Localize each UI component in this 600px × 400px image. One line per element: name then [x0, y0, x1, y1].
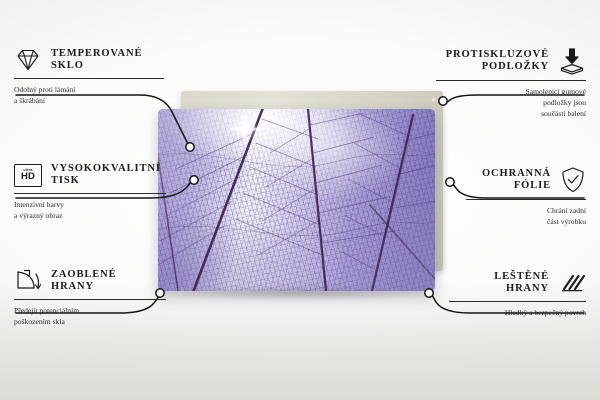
- ultra-hd-icon-large-text: HD: [21, 172, 35, 182]
- feature-title-line2: HRANY: [51, 281, 117, 293]
- feature-title-line2: HRANY: [494, 283, 549, 295]
- infographic-canvas: TEMPEROVANÉ SKLO Odolný proti lámání a š…: [0, 0, 600, 400]
- feature-title-line1: VYSOKOKVALITNÍ: [51, 163, 161, 175]
- feature-divider: [14, 299, 166, 300]
- feature-title: LEŠTĚNÉ HRANY: [494, 271, 549, 296]
- feature-polished-edges: LEŠTĚNÉ HRANY Hladký a bezpečný povrch: [449, 271, 586, 318]
- feature-description: Předejít potenciálním poškozením skla: [14, 305, 166, 327]
- feature-title-line1: OCHRANNÁ: [482, 168, 551, 180]
- feature-title-line2: SKLO: [51, 60, 142, 72]
- rounded-corner-icon: [14, 268, 42, 294]
- feature-title-line1: ZAOBLENÉ: [51, 269, 117, 281]
- glass-sheen: [158, 109, 435, 291]
- product-image: [150, 80, 460, 310]
- diamond-icon: [14, 47, 42, 73]
- feature-description: Hladký a bezpečný povrch: [449, 307, 586, 318]
- feature-rounded-edges: ZAOBLENÉ HRANY Předejít potenciálním poš…: [14, 268, 166, 327]
- product-drop-shadow: [156, 286, 440, 300]
- ultra-hd-icon: ultra HD: [14, 164, 42, 187]
- feature-divider: [449, 301, 586, 302]
- feature-title-line2: TISK: [51, 175, 161, 187]
- feature-description: Odolný proti lámání a škrábání: [14, 84, 164, 106]
- feature-title: ZAOBLENÉ HRANY: [51, 269, 117, 294]
- feature-title: PROTISKLUZOVÉ PODLOŽKY: [446, 49, 549, 74]
- feature-divider: [14, 193, 166, 194]
- feature-title-line1: PROTISKLUZOVÉ: [446, 49, 549, 61]
- feature-title-line2: FÓLIE: [482, 180, 551, 192]
- feature-description: Samolepicí gumové podložky jsou součástí…: [436, 86, 586, 119]
- shield-check-icon: [560, 166, 586, 194]
- glass-board: [158, 109, 435, 291]
- feature-title: TEMPEROVANÉ SKLO: [51, 48, 142, 73]
- feature-tempered-glass: TEMPEROVANÉ SKLO Odolný proti lámání a š…: [14, 47, 164, 106]
- leaf-pattern-artwork: [158, 109, 435, 291]
- feature-divider: [436, 80, 586, 81]
- feature-protective-foil: OCHRANNÁ FÓLIE Chrání zadní část výrobku: [466, 166, 586, 227]
- feature-title: VYSOKOKVALITNÍ TISK: [51, 163, 161, 188]
- feature-divider: [466, 199, 586, 200]
- arrow-on-pad-icon: [558, 47, 586, 75]
- feature-title: OCHRANNÁ FÓLIE: [482, 168, 551, 193]
- feature-title-line1: LEŠTĚNÉ: [494, 271, 549, 283]
- feature-high-quality-print: ultra HD VYSOKOKVALITNÍ TISK Intenzivní …: [14, 163, 166, 221]
- feature-description: Chrání zadní část výrobku: [466, 205, 586, 227]
- diagonal-stripes-icon: [558, 272, 586, 294]
- feature-title-line2: PODLOŽKY: [446, 61, 549, 73]
- feature-divider: [14, 78, 164, 79]
- feature-description: Intenzivní barvy a výrazný obraz: [14, 199, 166, 221]
- feature-title-line1: TEMPEROVANÉ: [51, 48, 142, 60]
- feature-anti-slip-pads: PROTISKLUZOVÉ PODLOŽKY Samolepicí gumové…: [436, 47, 586, 119]
